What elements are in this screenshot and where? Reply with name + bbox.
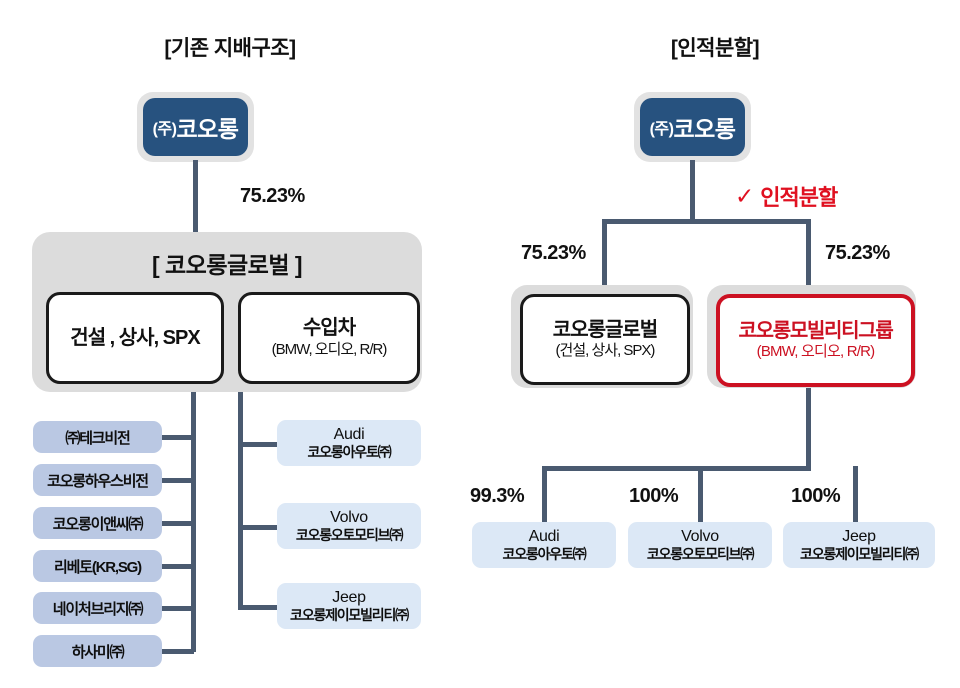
- right-holding-connector: [690, 160, 695, 222]
- brand-branch-volvo: [698, 466, 703, 522]
- car-brand-name: Jeep: [842, 528, 876, 546]
- right-panel-title: [인적분할]: [490, 32, 940, 62]
- subsidiary-label: 네이처브리지㈜: [53, 598, 142, 619]
- kolon-global-container: [ 코오롱글로벌 ] 건설 , 상사, SPX 수입차 (BMW, 오디오, R…: [32, 232, 422, 392]
- left-holding-connector: [193, 160, 198, 232]
- corp-mark: (주): [650, 115, 674, 139]
- subsidiary-pill-naturebridge[interactable]: 네이처브리지㈜: [33, 592, 162, 624]
- subsidiary-label: 코오롱하우스비전: [47, 470, 148, 491]
- subsidiary-connector: [162, 435, 194, 440]
- car-brand-pill-jeep[interactable]: Jeep 코오롱제이모빌리티㈜: [277, 583, 421, 629]
- kolon-mobility-entity-box[interactable]: 코오롱모빌리티그룹 (BMW, 오디오, R/R): [716, 294, 915, 387]
- split-branch-right: [806, 219, 811, 285]
- split-annotation: ✓ 인적분할: [735, 180, 837, 212]
- entity-title: 코오롱모빌리티그룹: [739, 320, 893, 342]
- right-holding-name: 코오롱: [673, 110, 735, 144]
- org-chart-diagram: [기존 지배구조] (주)코오롱 75.23% [ 코오롱글로벌 ] 건설 , …: [0, 0, 960, 688]
- right-ownership-pct-right: 75.23%: [825, 242, 890, 265]
- check-icon: ✓: [735, 185, 753, 208]
- brand-pct-audi: 99.3%: [470, 485, 524, 508]
- car-brand-pill-audi[interactable]: Audi 코오롱아우토㈜: [277, 420, 421, 466]
- subsidiary-connector: [162, 564, 194, 569]
- brand-pct-volvo: 100%: [629, 485, 678, 508]
- subsidiary-label: 하사미㈜: [72, 641, 124, 662]
- split-branch-left: [602, 219, 607, 285]
- kolon-mobility-entity-frame: 코오롱모빌리티그룹 (BMW, 오디오, R/R): [707, 285, 916, 388]
- right-car-brand-pill-volvo[interactable]: Volvo 코오롱오토모티브㈜: [628, 522, 772, 568]
- subsidiary-pill-enc[interactable]: 코오롱이앤씨㈜: [33, 507, 162, 539]
- mobility-trunk-line: [806, 388, 811, 468]
- subsidiary-connector: [162, 521, 194, 526]
- car-brand-pill-volvo[interactable]: Volvo 코오롱오토모티브㈜: [277, 503, 421, 549]
- entity-subtitle: (건설, 상사, SPX): [556, 343, 655, 360]
- right-holding-box[interactable]: (주)코오롱: [634, 92, 751, 162]
- car-brand-corp: 코오롱제이모빌리티㈜: [290, 608, 408, 624]
- subsidiary-pill-techvision[interactable]: ㈜테크비전: [33, 421, 162, 453]
- subsidiary-pill-housevision[interactable]: 코오롱하우스비전: [33, 464, 162, 496]
- subsidiary-connector: [162, 606, 194, 611]
- right-ownership-pct-left: 75.23%: [521, 242, 586, 265]
- division-title: 건설 , 상사, SPX: [70, 327, 199, 349]
- entity-subtitle: (BMW, 오디오, R/R): [757, 344, 875, 361]
- right-holding-label: (주)코오롱: [640, 98, 745, 156]
- subsidiary-connector: [162, 649, 194, 654]
- left-holding-name: 코오롱: [176, 110, 238, 144]
- car-brand-corp: 코오롱오토모티브㈜: [647, 547, 753, 563]
- car-brand-connector: [238, 525, 278, 530]
- car-brand-name: Jeep: [332, 589, 366, 607]
- car-brand-corp: 코오롱아우토㈜: [308, 445, 391, 461]
- kolon-global-entity-frame: 코오롱글로벌 (건설, 상사, SPX): [511, 285, 693, 388]
- left-holding-box[interactable]: (주)코오롱: [137, 92, 254, 162]
- right-car-brand-pill-audi[interactable]: Audi 코오롱아우토㈜: [472, 522, 616, 568]
- car-brand-name: Volvo: [681, 528, 719, 546]
- left-holding-label: (주)코오롱: [143, 98, 248, 156]
- car-brand-name: Volvo: [330, 509, 368, 527]
- car-brand-connector: [238, 605, 278, 610]
- car-brand-name: Audi: [529, 528, 560, 546]
- division-box-construction[interactable]: 건설 , 상사, SPX: [46, 292, 224, 384]
- brand-branch-audi: [542, 466, 547, 522]
- left-ownership-pct: 75.23%: [240, 185, 305, 208]
- subsidiary-pill-liberto[interactable]: 리베토(KR,SG): [33, 550, 162, 582]
- car-brand-corp: 코오롱아우토㈜: [503, 547, 586, 563]
- brand-pct-jeep: 100%: [791, 485, 840, 508]
- subsidiary-connector: [162, 478, 194, 483]
- subsidiary-label: ㈜테크비전: [65, 427, 129, 448]
- car-brand-corp: 코오롱제이모빌리티㈜: [800, 547, 918, 563]
- division-title: 수입차: [303, 317, 355, 339]
- entity-title: 코오롱글로벌: [553, 319, 657, 341]
- subsidiary-label: 리베토(KR,SG): [54, 556, 141, 577]
- car-brand-connector: [238, 442, 278, 447]
- right-car-brand-pill-jeep[interactable]: Jeep 코오롱제이모빌리티㈜: [783, 522, 935, 568]
- division-subtitle: (BMW, 오디오, R/R): [272, 342, 387, 359]
- kolon-global-title: [ 코오롱글로벌 ]: [32, 246, 422, 280]
- car-brand-trunk-line: [238, 392, 243, 608]
- corp-mark: (주): [153, 115, 177, 139]
- subsidiary-pill-hasami[interactable]: 하사미㈜: [33, 635, 162, 667]
- division-box-imported-cars[interactable]: 수입차 (BMW, 오디오, R/R): [238, 292, 420, 384]
- brand-branch-jeep: [853, 466, 858, 522]
- car-brand-corp: 코오롱오토모티브㈜: [296, 528, 402, 544]
- car-brand-name: Audi: [334, 426, 365, 444]
- split-label: 인적분할: [760, 180, 837, 212]
- kolon-global-entity-box[interactable]: 코오롱글로벌 (건설, 상사, SPX): [520, 294, 690, 385]
- split-bus-line: [602, 219, 811, 224]
- brand-bus-line: [542, 466, 811, 471]
- subsidiary-label: 코오롱이앤씨㈜: [53, 513, 142, 534]
- left-panel-title: [기존 지배구조]: [0, 32, 460, 62]
